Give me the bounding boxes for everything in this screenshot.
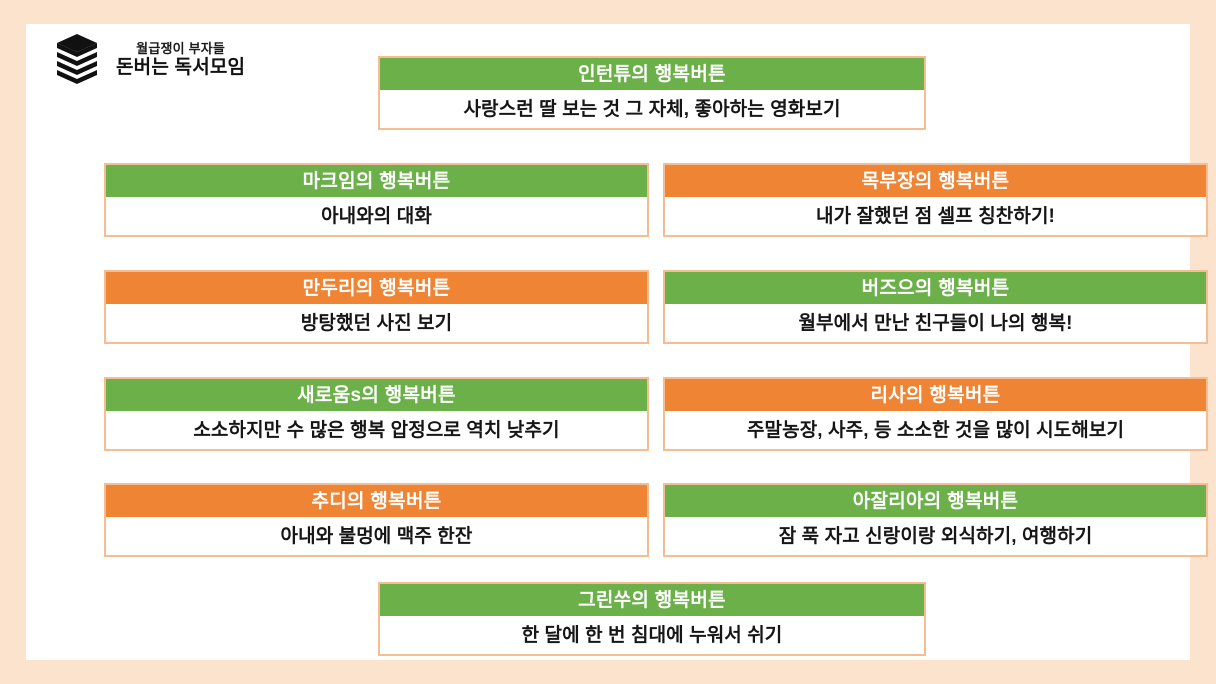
- card-body: 사랑스런 딸 보는 것 그 자체, 좋아하는 영화보기: [380, 90, 924, 128]
- card-body: 잠 푹 자고 신랑이랑 외식하기, 여행하기: [665, 517, 1206, 555]
- card-header: 만두리의 행복버튼: [106, 272, 647, 304]
- card-body: 방탕했던 사진 보기: [106, 304, 647, 342]
- card-body: 내가 잘했던 점 셀프 칭찬하기!: [665, 197, 1206, 235]
- happy-button-card[interactable]: 리사의 행복버튼 주말농장, 사주, 등 소소한 것을 많이 시도해보기: [663, 377, 1208, 451]
- card-header: 목부장의 행복버튼: [665, 165, 1206, 197]
- card-header: 새로움s의 행복버튼: [106, 379, 647, 411]
- happy-button-card[interactable]: 그린쑤의 행복버튼 한 달에 한 번 침대에 누워서 쉬기: [378, 582, 926, 656]
- brand-title: 돈버는 독서모임: [116, 58, 245, 78]
- card-body: 한 달에 한 번 침대에 누워서 쉬기: [380, 616, 924, 654]
- card-body: 월부에서 만난 친구들이 나의 행복!: [665, 304, 1206, 342]
- brand-logo: 월급쟁이 부자들 돈버는 독서모임: [54, 32, 245, 86]
- card-body: 주말농장, 사주, 등 소소한 것을 많이 시도해보기: [665, 411, 1206, 449]
- card-header: 아잘리아의 행복버튼: [665, 485, 1206, 517]
- happy-button-card[interactable]: 만두리의 행복버튼 방탕했던 사진 보기: [104, 270, 649, 344]
- happy-button-card[interactable]: 목부장의 행복버튼 내가 잘했던 점 셀프 칭찬하기!: [663, 163, 1208, 237]
- card-header: 인턴튜의 행복버튼: [380, 58, 924, 90]
- slide-canvas: 월급쟁이 부자들 돈버는 독서모임 인턴튜의 행복버튼 사랑스런 딸 보는 것 …: [0, 0, 1216, 684]
- content-panel: 월급쟁이 부자들 돈버는 독서모임 인턴튜의 행복버튼 사랑스런 딸 보는 것 …: [26, 24, 1190, 660]
- card-header: 추디의 행복버튼: [106, 485, 647, 517]
- stacked-books-icon: [54, 32, 100, 86]
- happy-button-card[interactable]: 아잘리아의 행복버튼 잠 푹 자고 신랑이랑 외식하기, 여행하기: [663, 483, 1208, 557]
- happy-button-card[interactable]: 버즈으의 행복버튼 월부에서 만난 친구들이 나의 행복!: [663, 270, 1208, 344]
- happy-button-card[interactable]: 인턴튜의 행복버튼 사랑스런 딸 보는 것 그 자체, 좋아하는 영화보기: [378, 56, 926, 130]
- brand-text: 월급쟁이 부자들 돈버는 독서모임: [116, 40, 245, 79]
- card-header: 버즈으의 행복버튼: [665, 272, 1206, 304]
- happy-button-card[interactable]: 추디의 행복버튼 아내와 불멍에 맥주 한잔: [104, 483, 649, 557]
- card-body: 소소하지만 수 많은 행복 압정으로 역치 낮추기: [106, 411, 647, 449]
- card-header: 그린쑤의 행복버튼: [380, 584, 924, 616]
- card-header: 리사의 행복버튼: [665, 379, 1206, 411]
- card-header: 마크임의 행복버튼: [106, 165, 647, 197]
- card-body: 아내와 불멍에 맥주 한잔: [106, 517, 647, 555]
- happy-button-card[interactable]: 마크임의 행복버튼 아내와의 대화: [104, 163, 649, 237]
- brand-subtitle: 월급쟁이 부자들: [136, 42, 225, 56]
- happy-button-card[interactable]: 새로움s의 행복버튼 소소하지만 수 많은 행복 압정으로 역치 낮추기: [104, 377, 649, 451]
- card-body: 아내와의 대화: [106, 197, 647, 235]
